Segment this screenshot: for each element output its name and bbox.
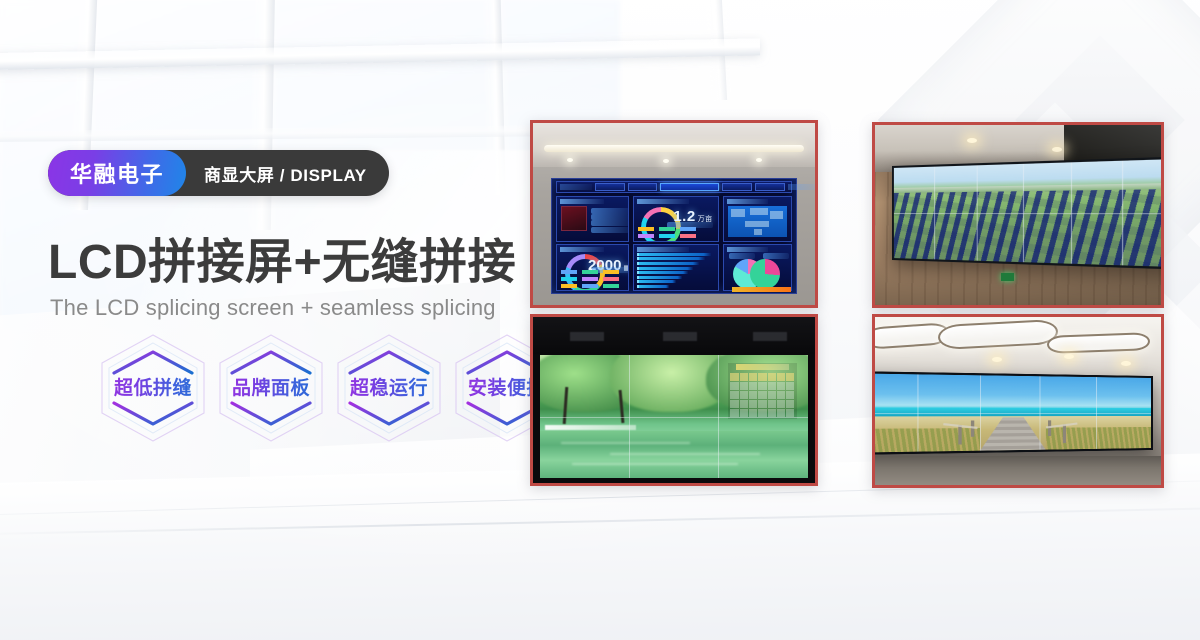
flow-node	[770, 211, 783, 220]
photo-solar-farm-video-wall[interactable]	[872, 122, 1164, 308]
ceiling-light-trough	[1046, 332, 1150, 354]
pie-legend	[729, 253, 755, 259]
calendar-cell	[730, 373, 738, 381]
dashboard-navbar	[556, 181, 792, 194]
legend-swatch	[659, 234, 675, 238]
calendar-cell	[777, 400, 785, 408]
hall-floor	[875, 456, 1161, 485]
calendar-cell	[768, 400, 776, 408]
dashboard-row-top: 1.2万亩	[556, 196, 792, 242]
calendar-cell	[758, 409, 766, 417]
chart-legend	[561, 270, 625, 288]
bar	[637, 276, 682, 279]
copy-column: 华融电子 商显大屏 / DISPLAY LCD拼接屏+无缝拼接 The LCD …	[48, 0, 518, 640]
bar	[637, 262, 699, 265]
control-room: 1.2万亩	[533, 123, 815, 305]
process-flow-diagram	[728, 206, 787, 238]
feature-badge: 超稳运行	[330, 332, 448, 444]
calendar-cell	[777, 409, 785, 417]
calendar-cell	[768, 391, 776, 399]
calendar-grid	[730, 373, 794, 417]
calendar-overlay	[728, 363, 798, 420]
chart-legend	[638, 227, 714, 238]
beach-boardwalk-image	[872, 373, 1150, 452]
card-title	[727, 199, 769, 204]
brand-category: 商显大屏 / DISPLAY	[186, 150, 389, 196]
legend-swatch	[638, 234, 654, 238]
calendar-cell	[768, 382, 776, 390]
downlight	[756, 158, 762, 162]
bar	[637, 257, 705, 260]
legend-swatch	[582, 277, 598, 281]
flow-node	[731, 209, 745, 217]
photo-dashboard-video-wall[interactable]: 1.2万亩	[530, 120, 818, 308]
card-text-line	[591, 208, 629, 214]
calendar-cell	[768, 373, 776, 381]
calendar-cell	[749, 373, 757, 381]
feature-badge: 超低拼缝	[94, 332, 212, 444]
flow-node	[750, 208, 768, 215]
calendar-cell	[786, 373, 794, 381]
calendar-cell	[740, 391, 748, 399]
legend-swatch	[680, 234, 696, 238]
calendar-cell	[730, 382, 738, 390]
card-text-line	[591, 214, 629, 220]
panel-logo	[753, 332, 787, 341]
product-banner: 华融电子 商显大屏 / DISPLAY LCD拼接屏+无缝拼接 The LCD …	[0, 0, 1200, 640]
calendar-cell	[749, 409, 757, 417]
dashboard-card-pies	[723, 244, 792, 291]
panel-logo	[570, 332, 604, 341]
water-reflection	[561, 442, 690, 444]
calendar-cell	[749, 400, 757, 408]
video-wall	[540, 355, 808, 478]
legend-swatch	[582, 270, 598, 274]
legend-swatch	[603, 277, 619, 281]
calendar-cell	[786, 382, 794, 390]
calendar-cell	[758, 391, 766, 399]
calendar-cell	[758, 373, 766, 381]
dashboard-ticker	[732, 287, 790, 292]
dashboard-nav-tab[interactable]	[722, 183, 752, 191]
card-title	[727, 247, 769, 252]
pie-legend	[763, 253, 789, 259]
calendar-cell	[730, 391, 738, 399]
dashboard-card-gauge: 2000▦	[556, 244, 629, 291]
legend-swatch	[603, 270, 619, 274]
lake-water	[540, 431, 808, 478]
fence-post	[958, 425, 961, 445]
legend-swatch	[638, 227, 654, 231]
solar-farm-image	[894, 159, 1164, 267]
exit-sign	[1001, 273, 1014, 281]
showroom-dark-wall	[533, 317, 815, 483]
feature-badge: 品牌面板	[212, 332, 330, 444]
calendar-cell	[740, 382, 748, 390]
feature-badge-label: 品牌面板	[212, 373, 330, 400]
photo-beach-boardwalk-video-wall[interactable]	[872, 314, 1164, 488]
dashboard-card-flowchart	[723, 196, 792, 242]
ceiling-spotlight	[1064, 354, 1074, 359]
flow-node	[745, 221, 769, 227]
legend-swatch	[582, 284, 598, 288]
photo-lake-scenery-video-wall[interactable]	[530, 314, 818, 486]
wood-paneled-room	[875, 125, 1161, 305]
video-wall	[892, 157, 1164, 270]
bar	[637, 285, 669, 288]
dashboard-timestamp	[560, 184, 592, 190]
dashboard-card-kpi: 1.2万亩	[633, 196, 719, 242]
card-title	[637, 247, 689, 252]
calendar-cell	[786, 400, 794, 408]
water-reflection	[572, 463, 738, 465]
brand-name: 华融电子	[48, 150, 186, 196]
calendar-cell	[749, 382, 757, 390]
card-text-line	[591, 220, 629, 226]
calendar-title	[736, 364, 789, 370]
legend-swatch	[680, 227, 696, 231]
lakeside-railing	[545, 425, 636, 430]
cove-light	[544, 145, 803, 152]
panel-logo	[663, 332, 697, 341]
sea-band	[872, 407, 1150, 416]
calendar-cell	[730, 400, 738, 408]
dashboard-nav-tab[interactable]	[595, 183, 625, 191]
water-reflection	[610, 453, 760, 455]
dune-grass	[1045, 427, 1150, 450]
legend-swatch	[561, 284, 577, 288]
legend-swatch	[561, 270, 577, 274]
panel-bezel	[540, 417, 808, 418]
dashboard-card-ranking	[633, 244, 719, 291]
legend-swatch	[659, 227, 675, 231]
card-thumbnail	[561, 206, 588, 231]
calendar-cell	[768, 409, 776, 417]
dashboard-nav-tab[interactable]	[628, 183, 658, 191]
dashboard-screen: 1.2万亩	[551, 178, 796, 294]
fence-post	[1063, 424, 1066, 443]
dashboard-platform-title	[660, 183, 719, 191]
page-subtitle: The LCD splicing screen + seamless splic…	[50, 295, 496, 321]
bar	[637, 253, 711, 256]
video-wall	[872, 371, 1152, 455]
bar	[637, 280, 676, 283]
calendar-cell	[749, 391, 757, 399]
upper-black-panel	[533, 317, 815, 354]
ceiling-spotlight	[1121, 361, 1131, 366]
calendar-cell	[777, 391, 785, 399]
calendar-cell	[777, 382, 785, 390]
dune-grass	[872, 428, 980, 453]
feature-badge-label: 超低拼缝	[94, 373, 212, 400]
ceiling-spotlight	[1052, 147, 1062, 152]
calendar-cell	[730, 409, 738, 417]
page-title: LCD拼接屏+无缝拼接	[48, 222, 516, 292]
legend-swatch	[561, 277, 577, 281]
pie-chart	[750, 259, 780, 289]
flow-node	[754, 229, 762, 235]
card-title	[560, 247, 604, 252]
calendar-cell	[740, 400, 748, 408]
dashboard-row-bottom: 2000▦	[556, 244, 792, 291]
exhibition-hall	[875, 317, 1161, 485]
calendar-cell	[786, 409, 794, 417]
ceiling-spotlight	[967, 138, 977, 143]
calendar-cell	[740, 409, 748, 417]
feature-badge-list: 超低拼缝 品牌面板	[94, 332, 566, 444]
bar	[637, 267, 693, 270]
bar-chart	[637, 253, 714, 288]
calendar-cell	[777, 373, 785, 381]
card-text-line	[591, 227, 629, 233]
calendar-cell	[740, 373, 748, 381]
dashboard-user-info	[788, 184, 818, 190]
calendar-cell	[786, 391, 794, 399]
bar	[637, 271, 688, 274]
dashboard-nav-tab[interactable]	[755, 183, 785, 191]
panel-bezel	[872, 413, 1150, 414]
card-title	[560, 199, 604, 204]
brand-pill: 华融电子 商显大屏 / DISPLAY	[48, 150, 389, 196]
calendar-cell	[758, 382, 766, 390]
feature-badge-label: 超稳运行	[330, 373, 448, 400]
legend-swatch	[603, 284, 619, 288]
downlight	[567, 158, 573, 162]
calendar-cell	[758, 400, 766, 408]
card-title	[637, 199, 689, 204]
dashboard-card-intro	[556, 196, 629, 242]
